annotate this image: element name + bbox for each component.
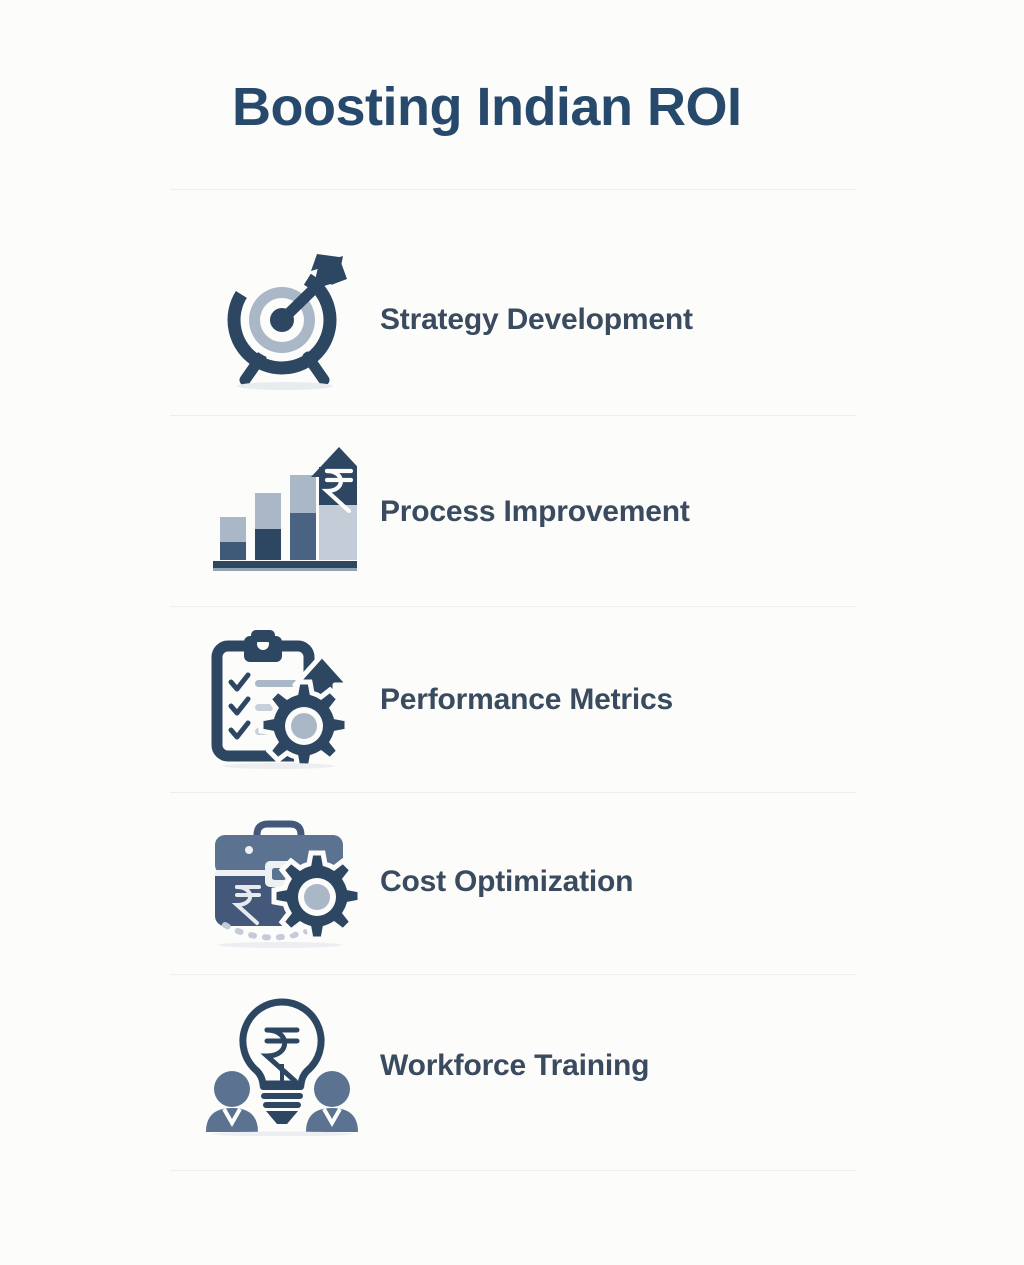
list-item-label: Workforce Training [380, 1049, 649, 1083]
list-item[interactable]: Process Improvement [170, 418, 856, 606]
title-block: Boosting Indian ROI [0, 78, 1024, 137]
page-title: Boosting Indian ROI [232, 78, 1024, 137]
target-arrow-icon [170, 240, 380, 400]
infographic-page: Boosting Indian ROI [0, 0, 1024, 1265]
divider-1 [170, 415, 856, 416]
divider-bottom [170, 1170, 856, 1171]
briefcase-rupee-gear-icon [170, 802, 380, 962]
list-item-label: Performance Metrics [380, 683, 673, 717]
list-item[interactable]: Workforce Training [170, 972, 856, 1160]
growth-bar-chart-rupee-arrow-icon [170, 432, 380, 592]
divider-top [170, 189, 856, 190]
list-item[interactable]: Performance Metrics [170, 606, 856, 794]
list-item-label: Strategy Development [380, 303, 693, 337]
lightbulb-rupee-people-icon [170, 986, 380, 1146]
list-item[interactable]: Cost Optimization [170, 788, 856, 976]
list-item-label: Cost Optimization [380, 865, 633, 899]
list-item[interactable]: Strategy Development [170, 226, 856, 414]
clipboard-checklist-gear-arrow-icon [170, 620, 380, 780]
list-item-label: Process Improvement [380, 495, 690, 529]
